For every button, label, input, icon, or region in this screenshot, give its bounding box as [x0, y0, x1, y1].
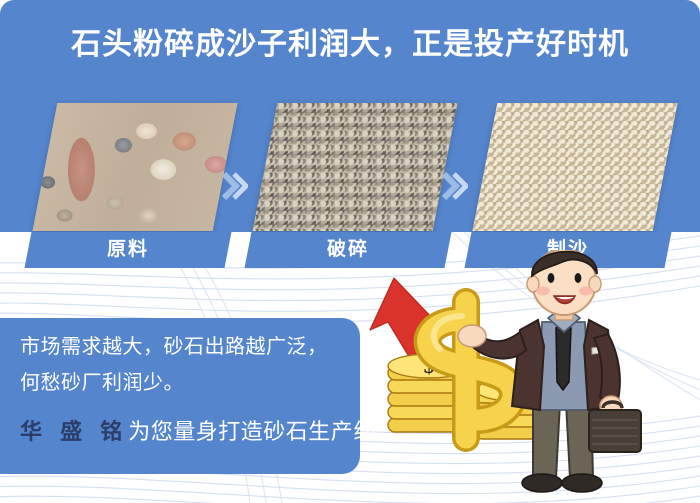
stage-photo-frame	[253, 103, 458, 231]
stage-photo-frame	[33, 103, 238, 231]
chevron-right-icon	[222, 172, 248, 200]
process-stage-2	[265, 103, 445, 231]
brand-tagline: 为您量身打造砂石生产线	[128, 419, 376, 444]
message-panel: 市场需求越大，砂石出路越广泛， 何愁砂厂利润少。 华 盛 铭为您量身打造砂石生产…	[0, 318, 360, 474]
river-pebbles-photo	[33, 103, 238, 231]
manufactured-sand-photo	[473, 103, 678, 231]
crushed-gravel-photo	[253, 103, 458, 231]
chevron-right-icon	[442, 172, 468, 200]
message-line-2: 何愁砂厂利润少。	[20, 366, 184, 395]
brand-tagline-row: 华 盛 铭为您量身打造砂石生产线	[20, 414, 376, 446]
stage-photo-frame	[473, 103, 678, 231]
money-and-businessman-illustration: $ $	[370, 250, 700, 503]
message-line-1: 市场需求越大，砂石出路越广泛，	[20, 330, 328, 359]
process-stage-3	[485, 103, 665, 231]
brand-name: 华 盛 铭	[20, 419, 128, 444]
page-title: 石头粉碎成沙子利润大，正是投产好时机	[0, 26, 700, 64]
process-stage-1	[45, 103, 225, 231]
stage-label-text: 原料	[28, 232, 228, 268]
briefcase-icon	[589, 402, 641, 452]
stage-label-1: 原料	[25, 232, 232, 268]
promo-poster: 石头粉碎成沙子利润大，正是投产好时机	[0, 0, 700, 503]
